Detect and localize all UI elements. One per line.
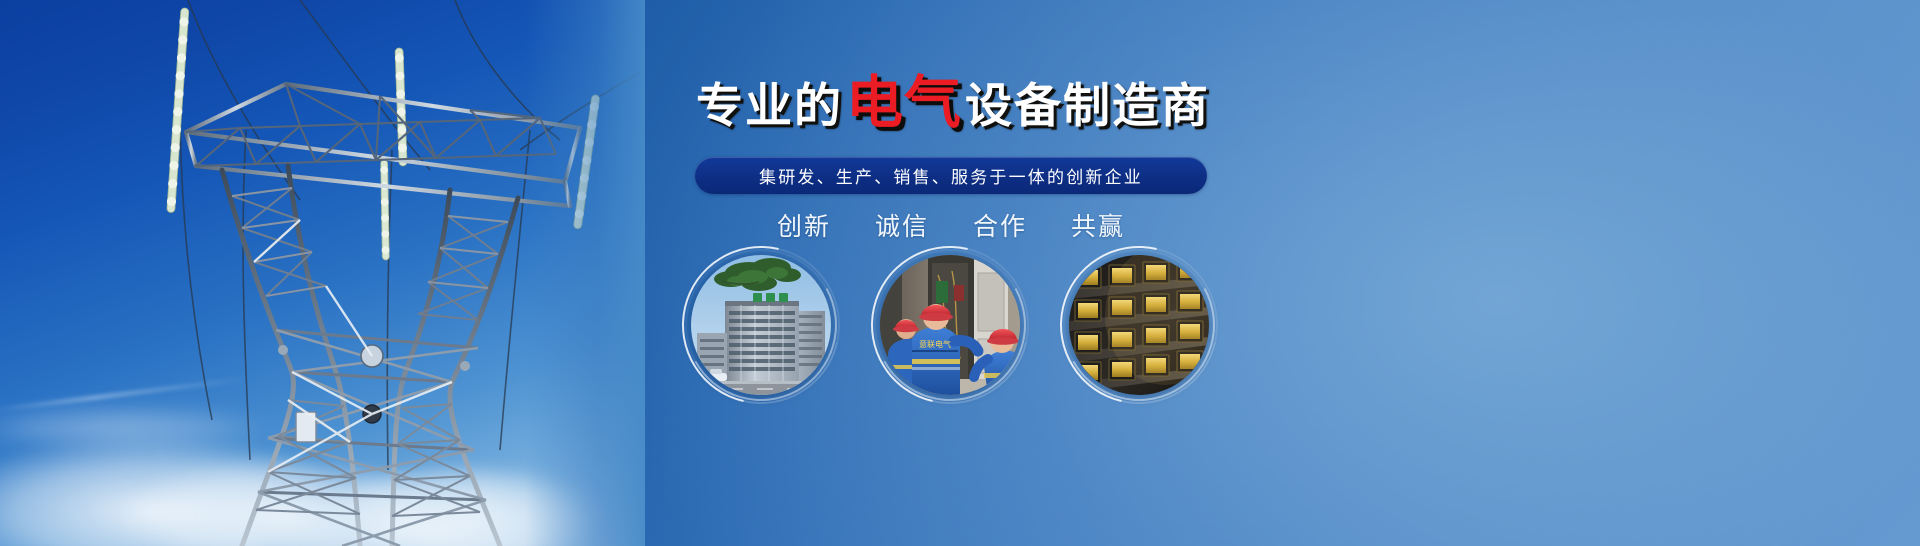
keyword-item: 诚信 (875, 207, 929, 243)
hero-banner: 专业的电气设备制造商 集研发、生产、销售、服务于一体的创新企业 创新 诚信 合作… (0, 0, 1920, 546)
photo-circle-list: 意联电气 (665, 255, 1235, 435)
workers-electrical-cabinet-photo: 意联电气 (880, 255, 1020, 395)
keyword-item: 共赢 (1071, 207, 1125, 243)
keyword-list: 创新 诚信 合作 共赢 (695, 207, 1207, 243)
headline-highlight: 电气 (843, 71, 965, 135)
pylon-icon (0, 0, 645, 546)
banner-content: 专业的电气设备制造商 集研发、生产、销售、服务于一体的创新企业 创新 诚信 合作… (645, 0, 1920, 546)
tagline-text: 集研发、生产、销售、服务于一体的创新企业 (759, 163, 1143, 188)
headline-part1: 专业的 (696, 79, 843, 132)
office-building-photo (691, 255, 831, 395)
transmission-tower-photo (0, 0, 645, 546)
page-title: 专业的电气设备制造商 (693, 72, 1213, 136)
circle-workers: 意联电气 (880, 255, 1020, 435)
certificate-wall-photo (1069, 255, 1209, 395)
headline-part2: 设备制造商 (965, 79, 1210, 132)
keyword-item: 合作 (973, 207, 1027, 243)
circle-certificates (1069, 255, 1209, 435)
svg-text:意联电气: 意联电气 (919, 339, 951, 349)
tagline-pill: 集研发、生产、销售、服务于一体的创新企业 (695, 157, 1207, 194)
circle-office-building (691, 255, 831, 435)
keyword-item: 创新 (777, 207, 831, 243)
